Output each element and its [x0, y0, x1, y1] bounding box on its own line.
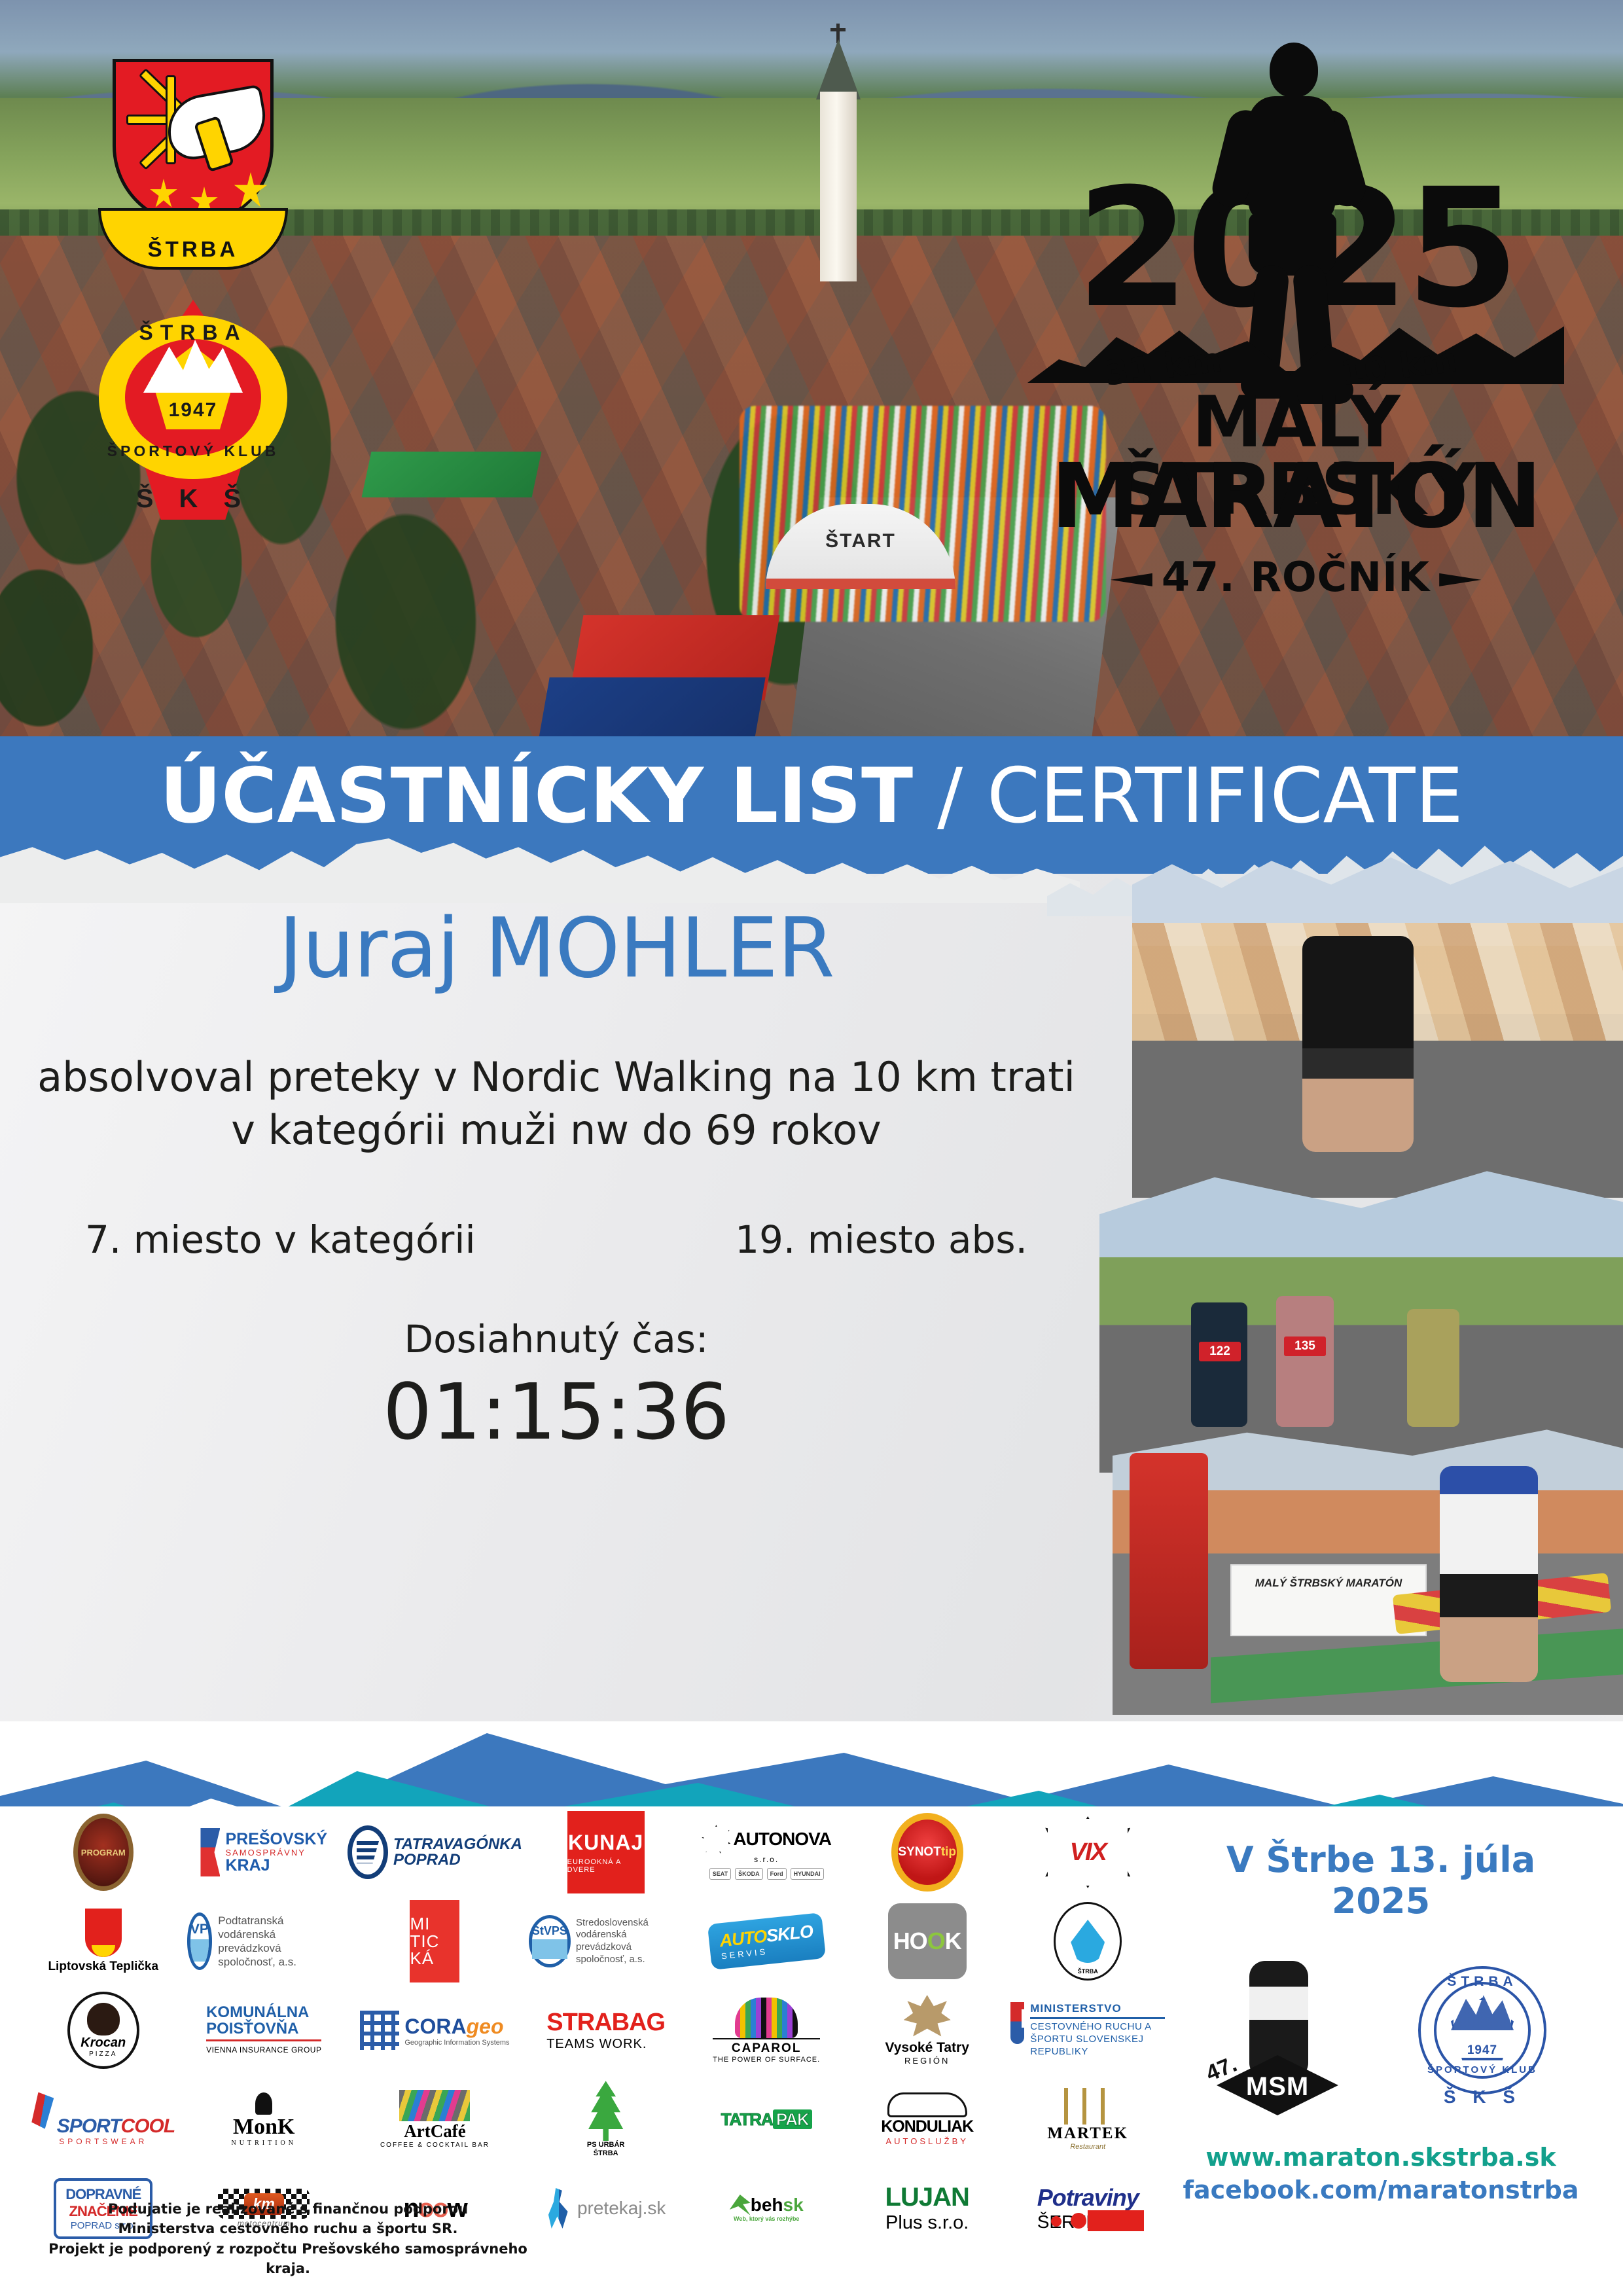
corageo-logo: CORAgeo Geographic Information Systems — [360, 2011, 509, 2050]
green-tent — [362, 452, 542, 497]
caparol-logo: CAPAROLTHE POWER OF SURFACE. — [713, 1998, 820, 2064]
placement-row: 7. miesto v kategórii 19. miesto abs. — [0, 1217, 1113, 1262]
sponsor-vix[interactable]: VIX — [1010, 1813, 1165, 1892]
sponsor-ps-urbar-strba[interactable]: PS URBÁRŠTRBA — [529, 2080, 683, 2159]
photo-collage: 181 122 135 MALÝ ŠTRBSKÝ MARATÓN — [1080, 851, 1623, 1715]
sponsor-autonova[interactable]: AUTONOVA s.r.o. SEAT ŠKODA Ford HYUNDAI — [689, 1813, 844, 1892]
pvps-water-icon: PVPS — [187, 1912, 213, 1970]
coa-star-3 — [232, 172, 269, 209]
sks-top-label: ŠTRBA — [95, 321, 291, 345]
pd-strba-logo: ŠTRBA — [1054, 1902, 1122, 1981]
presovsky-kraj-logo: PREŠOVSKÝ SAMOSPRÁVNY KRAJ — [200, 1828, 327, 1876]
sponsor-martek[interactable]: MARTEKRestaurant — [1010, 2080, 1165, 2159]
potraviny-serfel-logo: PotravinyŠERFEL — [1037, 2184, 1139, 2233]
time-label: Dosiahnutý čas: — [0, 1317, 1113, 1361]
red-dots-icon — [1088, 2210, 1144, 2231]
sponsor-program-trencin[interactable]: PROGRAM — [26, 1813, 181, 1892]
sks-year-label: 1947 — [95, 399, 291, 422]
liptovska-teplicka-logo: Liptovská Teplička — [48, 1909, 158, 1974]
sponsor-presovsky-kraj[interactable]: PREŠOVSKÝ SAMOSPRÁVNY KRAJ — [187, 1813, 342, 1892]
sks-stamp-top: ŠTRBA — [1404, 1974, 1561, 1990]
grid-icon — [360, 2011, 399, 2050]
sponsor-autosklo-servis[interactable]: AUTOSKLO SERVIS — [689, 1902, 844, 1981]
flame-icon — [200, 1828, 220, 1876]
coa-shield — [113, 59, 274, 226]
bib-number-1: 181 — [1323, 1000, 1394, 1031]
tree-icon — [583, 2081, 629, 2141]
achievement-line-1: absolvoval preteky v Nordic Walking na 1… — [0, 1050, 1113, 1104]
runner-pair-icon — [546, 2188, 572, 2229]
photo-finisher-jumping: 181 — [1132, 857, 1623, 1198]
color-bars-icon — [399, 2090, 470, 2121]
church-spire — [816, 39, 861, 99]
jumping-figure-icon — [255, 2092, 272, 2115]
sponsor-artcafe[interactable]: ArtCaféCOFFEE & COCKTAIL BAR — [348, 2080, 522, 2159]
miticka-logo: MI TIC KÁ — [410, 1900, 459, 1982]
sponsor-ministerstvo[interactable]: MINISTERSTVO CESTOVNÉHO RUCHU A ŠPORTU S… — [1010, 1991, 1165, 2070]
swoosh-icon — [31, 2092, 54, 2129]
sks-abbrev-label: Š K Š — [95, 484, 291, 514]
finish-time: 01:15:36 — [0, 1372, 1113, 1453]
church-tower — [802, 33, 874, 281]
sponsor-beh-sk[interactable]: behsk Web, ktorý vás rozhýbe — [689, 2169, 844, 2248]
sks-stamp-abbrev: Š K Š — [1404, 2087, 1561, 2108]
sponsor-tatrapak[interactable]: TATRAPAK — [689, 2080, 844, 2159]
edelweiss-icon — [904, 1995, 951, 2038]
race-edition: 47. ROČNÍK — [1014, 553, 1577, 601]
cutlery-icon — [1058, 2088, 1118, 2125]
sportcool-logo: SPORTCOOL SPORTSWEAR — [31, 2092, 175, 2147]
sponsor-synottip[interactable]: SYNOTtip — [850, 1813, 1005, 1892]
strba-coat-of-arms: ŠTRBA — [98, 59, 288, 275]
place-in-category: 7. miesto v kategórii — [85, 1217, 476, 1262]
footer-right-block: V Štrbe 13. júla 2025 47. MSM ŠTRBA 1947 — [1171, 1820, 1590, 2204]
sports-club-emblem: ŠTRBA 1947 ŠPORTOVÝ KLUB Š K Š — [95, 288, 291, 530]
arrow-left-icon — [1111, 573, 1152, 586]
water-drop-icon — [1071, 1920, 1105, 1963]
mountain-ridge-icon: 31 km 10 km — [1027, 304, 1564, 389]
place-absolute: 19. miesto abs. — [735, 1217, 1027, 1262]
sponsor-vysoke-tatry[interactable]: Vysoké TatryREGIÓN — [850, 1991, 1005, 2070]
disclaimer-line-1: Podujatie je realizované s finančnou pod… — [39, 2199, 537, 2219]
msm-mark: 47. MSM — [1201, 1957, 1351, 2121]
tatravagonka-logo: TATRAVAGÓNKA POPRAD — [348, 1825, 522, 1879]
runner-swoosh-icon — [730, 2195, 751, 2215]
coa-star-1 — [149, 179, 179, 209]
strabag-logo: STRABAGTEAMS WORK. — [546, 2009, 665, 2052]
konduliak-logo: KONDULIAKAUTOSLUŽBY — [881, 2092, 973, 2146]
krocan-pizza-logo: KrocanPIZZA — [67, 1992, 139, 2069]
elephant-icon — [735, 1998, 798, 2038]
sponsor-hook[interactable]: HOOK — [850, 1902, 1005, 1981]
race-logo: 2025 31 km 10 km MALÝ ŠTRBSKÝ MARATÓN 47… — [1014, 36, 1577, 605]
sponsor-pd-strba[interactable]: ŠTRBA — [1010, 1902, 1165, 1981]
disclaimer-line-2: Ministerstva cestovného ruchu a športu S… — [39, 2219, 537, 2238]
website-link[interactable]: www.maraton.skstrba.sk — [1171, 2143, 1590, 2172]
disclaimer-line-3: Projekt je podporený z rozpočtu Prešovsk… — [39, 2239, 537, 2279]
sponsor-potraviny-serfel[interactable]: PotravinyŠERFEL — [1010, 2169, 1165, 2248]
ministerstvo-logo: MINISTERSTVO CESTOVNÉHO RUCHU A ŠPORTU S… — [1010, 2002, 1165, 2058]
bib-number-3: 135 — [1284, 1336, 1326, 1356]
sponsor-kunaj[interactable]: KUNAJEUROOKNÁ A DVERE — [529, 1813, 683, 1892]
footer-marks: 47. MSM ŠTRBA 1947 ŠPORTOVÝ KLUB Š K Š — [1171, 1957, 1590, 2121]
sponsor-sportcool[interactable]: SPORTCOOL SPORTSWEAR — [26, 2080, 181, 2159]
kunaj-logo: KUNAJEUROOKNÁ A DVERE — [567, 1811, 645, 1893]
lamb-shield-icon — [85, 1909, 122, 1957]
blue-tent — [537, 677, 765, 743]
sponsor-liptovska-teplicka[interactable]: Liptovská Teplička — [26, 1902, 181, 1981]
sks-stamp-year: 1947 — [1404, 2043, 1561, 2058]
achievement-line-2: v kategórii muži nw do 69 rokov — [0, 1103, 1113, 1157]
vysoke-tatry-logo: Vysoké TatryREGIÓN — [885, 1995, 969, 2066]
sponsor-pretekaj-sk[interactable]: pretekaj.sk — [529, 2169, 683, 2248]
photo-runners-on-road: 122 135 — [1099, 1165, 1623, 1473]
msm-abbrev: MSM — [1217, 2072, 1338, 2102]
sponsor-caparol[interactable]: CAPAROLTHE POWER OF SURFACE. — [689, 1991, 844, 2070]
facebook-link[interactable]: facebook.com/maratonstrba — [1171, 2176, 1590, 2204]
event-date: V Štrbe 13. júla 2025 — [1171, 1839, 1590, 1922]
program-trencin-logo: PROGRAM — [73, 1814, 134, 1891]
coa-ribbon-label: ŠTRBA — [101, 237, 285, 262]
funding-disclaimer: Podujatie je realizované s finančnou pod… — [39, 2199, 537, 2279]
sponsor-strabag[interactable]: STRABAGTEAMS WORK. — [529, 1991, 683, 2070]
page-title: ÚČASTNÍCKY LIST / CERTIFICATE — [0, 759, 1623, 834]
ps-urbar-strba-logo: PS URBÁRŠTRBA — [583, 2081, 629, 2157]
turkey-icon — [87, 2003, 120, 2036]
monk-nutrition-logo: MonKNUTRITION — [232, 2092, 296, 2147]
autosklo-servis-logo: AUTOSKLO SERVIS — [707, 1912, 825, 1970]
lujan-plus-logo: LUJANPlus s.r.o. — [885, 2183, 969, 2234]
sponsor-area: PROGRAM PREŠOVSKÝ SAMOSPRÁVNY KRAJ TATRA — [0, 1806, 1623, 2296]
car-icon — [887, 2092, 967, 2117]
sponsor-lujan-plus[interactable]: LUJANPlus s.r.o. — [850, 2169, 1005, 2248]
stvps-water-icon: StVPS — [529, 1915, 571, 1967]
start-arch-label: ŠTART — [766, 530, 955, 552]
slovak-coat-of-arms-icon — [1010, 2002, 1024, 2044]
coa-ribbon: ŠTRBA — [98, 208, 288, 270]
sponsor-krocan-pizza[interactable]: KrocanPIZZA — [26, 1991, 181, 2070]
synottip-logo: SYNOTtip — [891, 1813, 963, 1892]
achievement-text: absolvoval preteky v Nordic Walking na 1… — [0, 1050, 1113, 1158]
tatravagonka-mark-icon — [348, 1825, 388, 1879]
sks-bottom-label: ŠPORTOVÝ KLUB — [95, 442, 291, 460]
sponsor-konduliak[interactable]: KONDULIAKAUTOSLUŽBY — [850, 2080, 1005, 2159]
sponsor-komunalna-poistovna[interactable]: KOMUNÁLNAPOISŤOVŇA VIENNA INSURANCE GROU… — [187, 1991, 342, 2070]
sponsor-pvps[interactable]: PVPS Podtatranská vodárenská prevádzková… — [187, 1902, 342, 1981]
sponsor-monk-nutrition[interactable]: MonKNUTRITION — [187, 2080, 342, 2159]
bib-number-2: 122 — [1199, 1342, 1241, 1361]
certificate-text-block: Juraj MOHLER absolvoval preteky v Nordic… — [0, 903, 1113, 1453]
autonova-logo: AUTONOVA s.r.o. SEAT ŠKODA Ford HYUNDAI — [702, 1825, 831, 1880]
hook-logo: HOOK — [888, 1903, 967, 1979]
sponsor-stvps[interactable]: StVPS Stredoslovenská vodárenská prevádz… — [529, 1902, 683, 1981]
beh-sk-logo: behsk Web, ktorý vás rozhýbe — [730, 2195, 804, 2222]
pretekaj-sk-logo: pretekaj.sk — [546, 2188, 666, 2229]
arrow-right-icon — [1439, 573, 1481, 586]
martek-logo: MARTEKRestaurant — [1047, 2088, 1128, 2151]
sponsor-corageo[interactable]: CORAgeo Geographic Information Systems — [348, 1991, 522, 2070]
participant-name: Juraj MOHLER — [0, 903, 1113, 994]
sponsor-miticka[interactable]: MI TIC KÁ — [348, 1902, 522, 1981]
starburst-icon — [702, 1825, 730, 1854]
sponsor-grid: PROGRAM PREŠOVSKÝ SAMOSPRÁVNY KRAJ TATRA — [26, 1813, 1165, 2248]
komunalna-poistovna-logo: KOMUNÁLNAPOISŤOVŇA VIENNA INSURANCE GROU… — [206, 2005, 321, 2056]
tatrapak-logo: TATRAPAK — [721, 2109, 812, 2130]
sponsor-tatravagonka[interactable]: TATRAVAGÓNKA POPRAD — [348, 1813, 522, 1892]
sks-stamp-mid: ŠPORTOVÝ KLUB — [1404, 2064, 1561, 2075]
stvps-logo: StVPS Stredoslovenská vodárenská prevádz… — [529, 1915, 683, 1967]
certificate-page: ŠTART ŠTRBA ŠTRBA 1947 ŠPORTOVÝ KL — [0, 0, 1623, 2296]
vix-logo: VIX — [1045, 1816, 1130, 1888]
artcafe-logo: ArtCaféCOFFEE & COCKTAIL BAR — [380, 2090, 490, 2149]
church-tower-body — [820, 92, 857, 281]
pvps-logo: PVPS Podtatranská vodárenská prevádzková… — [187, 1912, 342, 1970]
race-title-line2: MARATÓN — [1014, 455, 1577, 539]
sks-stamp-mark: ŠTRBA 1947 ŠPORTOVÝ KLUB Š K Š — [1404, 1957, 1561, 2121]
